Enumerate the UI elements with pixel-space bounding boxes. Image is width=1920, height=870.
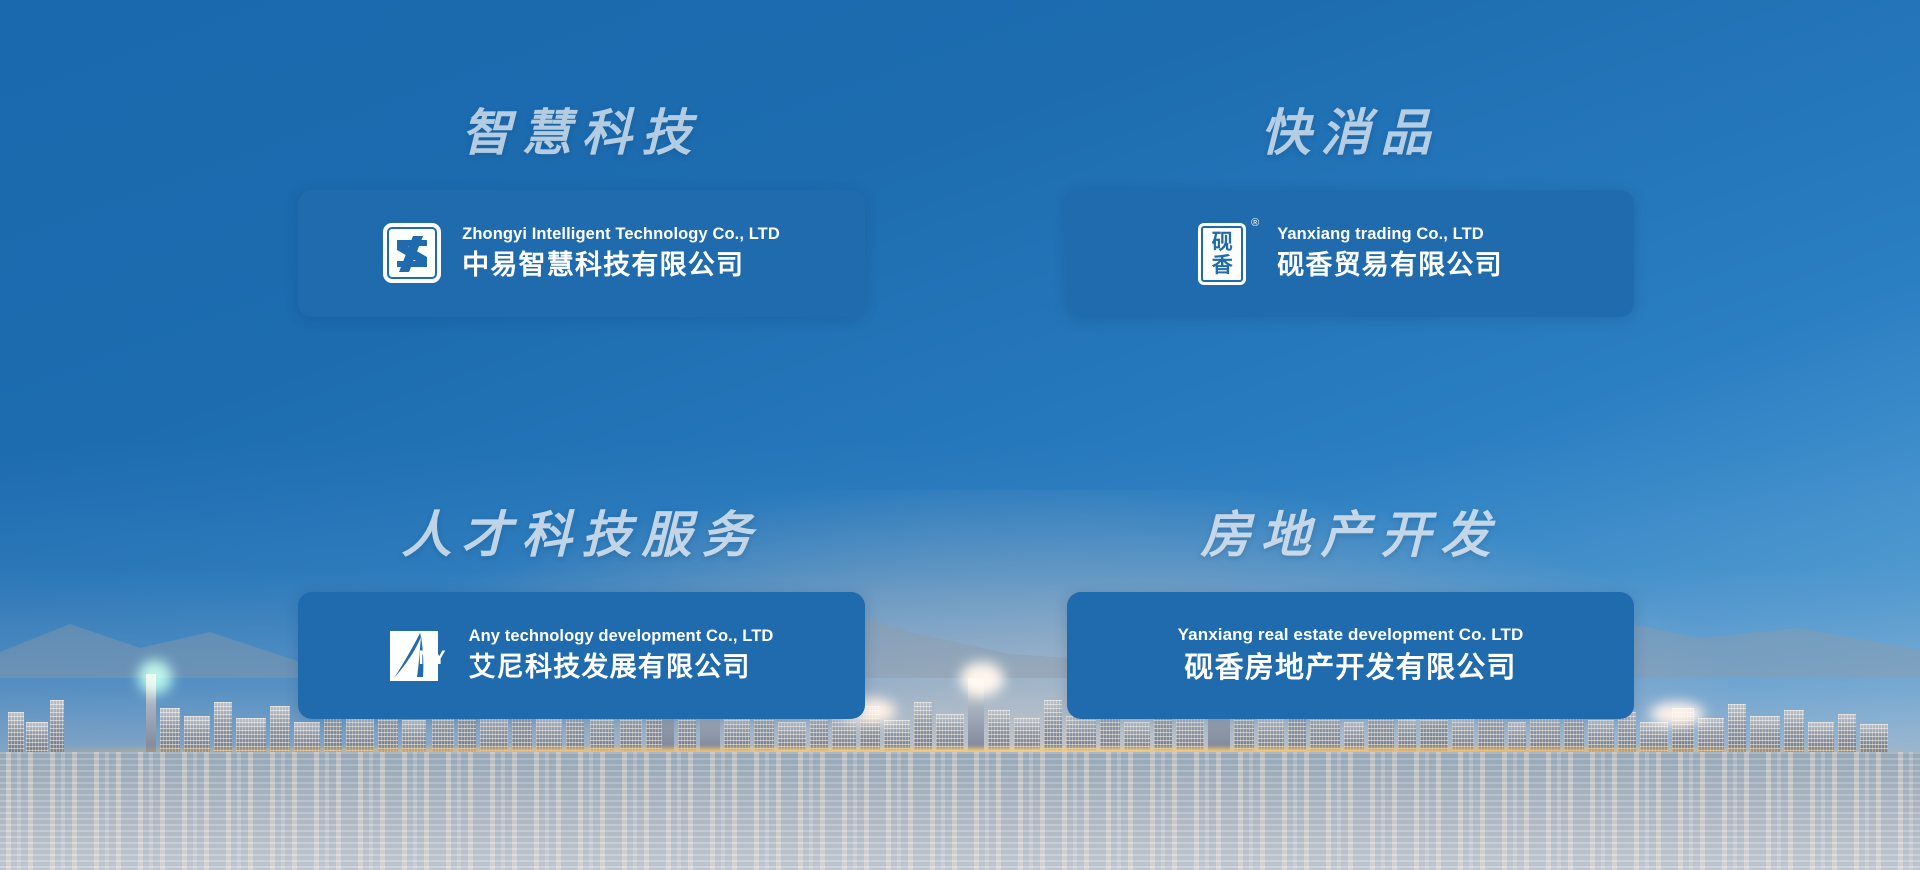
company-name-block: Any technology development Co., LTD 艾尼科技… [469, 626, 774, 685]
company-name-en: Yanxiang real estate development Co. LTD [1178, 624, 1524, 645]
company-name-block: Yanxiang trading Co., LTD 砚香贸易有限公司 [1277, 224, 1503, 283]
section-heading-fmcg: 快消品 [1067, 108, 1634, 158]
company-name-cn: 中易智慧科技有限公司 [462, 248, 780, 283]
company-card-yanxiang-real-estate[interactable]: Yanxiang real estate development Co. LTD… [1067, 592, 1634, 719]
company-name-block: Yanxiang real estate development Co. LTD… [1178, 624, 1524, 688]
section-heading-real-estate: 房地产开发 [1067, 510, 1634, 560]
section-heading-talent-services: 人才科技服务 [298, 510, 865, 560]
seal-char-bottom: 香 [1212, 254, 1233, 276]
logo-box: NY [390, 625, 452, 687]
zhongyi-z-logo-icon [383, 223, 441, 283]
seal-char-top: 砚 [1212, 231, 1233, 253]
company-name-en: Zhongyi Intelligent Technology Co., LTD [462, 224, 780, 245]
company-name-block: Zhongyi Intelligent Technology Co., LTD … [462, 224, 780, 283]
page-root: 智慧科技 Zhongyi Intelligent Technology Co., [0, 0, 1920, 870]
logo-box [383, 223, 445, 285]
company-name-cn: 砚香房地产开发有限公司 [1178, 650, 1524, 688]
company-card-zhongyi[interactable]: Zhongyi Intelligent Technology Co., LTD … [298, 190, 865, 317]
any-technology-logo-icon: NY [390, 625, 453, 687]
company-name-en: Yanxiang trading Co., LTD [1277, 224, 1503, 245]
any-logo-text: NY [419, 648, 446, 670]
sector-fmcg: 快消品 砚 香 ® Yanxiang trading Co., LTD 砚香贸易… [960, 0, 1920, 435]
company-card-any-technology[interactable]: NY Any technology development Co., LTD 艾… [298, 592, 865, 719]
company-name-en: Any technology development Co., LTD [469, 626, 774, 647]
business-sectors-grid: 智慧科技 Zhongyi Intelligent Technology Co., [0, 0, 1920, 870]
sector-smart-technology: 智慧科技 Zhongyi Intelligent Technology Co., [0, 0, 960, 435]
sector-talent-services: 人才科技服务 NY Any technology de [0, 435, 960, 870]
company-name-cn: 砚香贸易有限公司 [1277, 248, 1503, 283]
registered-trademark-icon: ® [1251, 217, 1259, 229]
yanxiang-seal-logo-icon: 砚 香 ® [1198, 223, 1246, 285]
company-name-cn: 艾尼科技发展有限公司 [469, 650, 774, 685]
sector-real-estate: 房地产开发 Yanxiang real estate development C… [960, 435, 1920, 870]
section-heading-smart-technology: 智慧科技 [298, 108, 865, 158]
logo-box: 砚 香 ® [1198, 223, 1260, 285]
company-card-yanxiang-trading[interactable]: 砚 香 ® Yanxiang trading Co., LTD 砚香贸易有限公司 [1067, 190, 1634, 317]
